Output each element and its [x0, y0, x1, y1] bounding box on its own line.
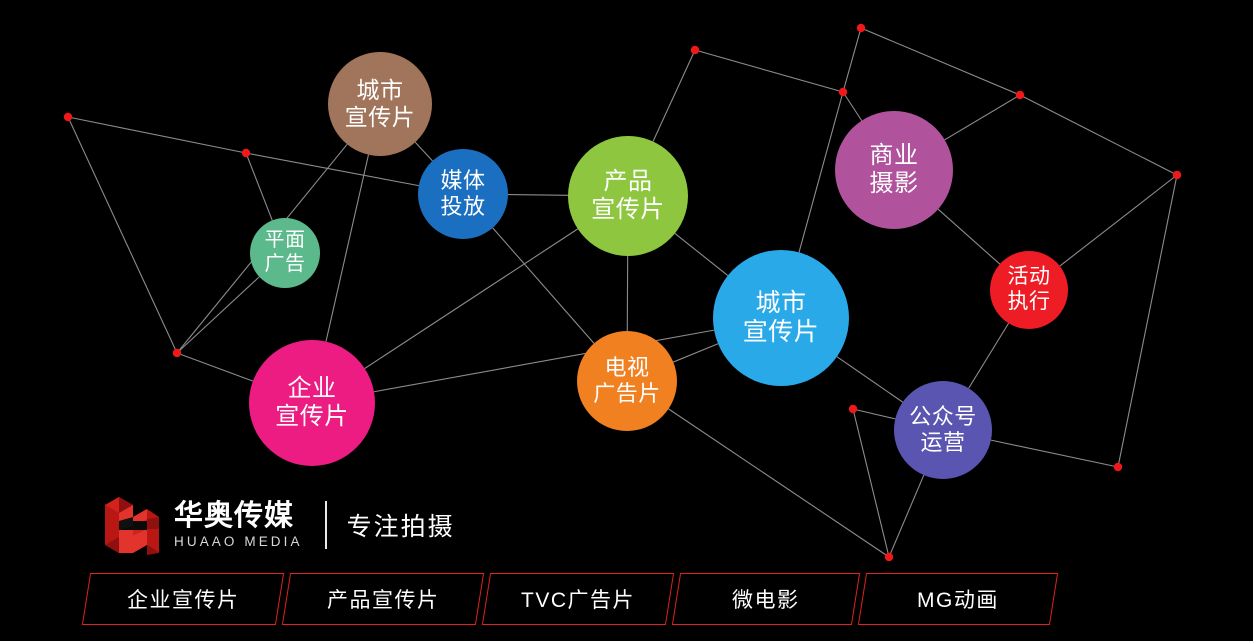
network-link [837, 357, 903, 402]
network-link [853, 409, 895, 419]
category-nav-bar: 企业宣传片产品宣传片TVC广告片微电影MG动画 [0, 569, 1253, 629]
network-link [326, 155, 368, 342]
nav-item-product-film[interactable]: 产品宣传片 [282, 573, 484, 625]
network-link [508, 195, 568, 196]
bubble-label-line: 城市 [357, 77, 404, 104]
brand-logo: 华奥传媒 HUAAO MEDIA 专注拍摄 [103, 494, 455, 556]
network-link [945, 95, 1020, 140]
bubble-label-line: 商业 [870, 142, 919, 170]
network-link [68, 117, 246, 153]
network-link [853, 409, 889, 557]
network-link [669, 409, 889, 557]
service-bubble-media-buy-blue[interactable]: 媒体投放 [418, 149, 508, 239]
network-link [1118, 175, 1177, 467]
brand-wordmark: 华奥传媒 HUAAO MEDIA [174, 496, 303, 554]
service-bubble-print-ad-green[interactable]: 平面广告 [250, 218, 320, 288]
bubble-label-line: 电视 [604, 355, 649, 381]
nav-item-mg-animation[interactable]: MG动画 [858, 573, 1058, 625]
bubble-label-line: 投放 [440, 194, 485, 220]
service-bubble-city-promo-cyan[interactable]: 城市宣传片 [713, 250, 849, 386]
network-link [177, 277, 259, 353]
network-link [493, 228, 594, 344]
network-link [861, 28, 1020, 95]
nav-item-tvc-commercial[interactable]: TVC广告片 [482, 573, 674, 625]
bubble-label-line: 宣传片 [591, 196, 665, 224]
nav-item-label: 产品宣传片 [327, 584, 440, 614]
bubble-label-line: 运营 [920, 430, 965, 456]
network-link [843, 92, 862, 121]
network-node-dot[interactable] [839, 88, 847, 96]
network-link [843, 28, 861, 92]
network-link [969, 323, 1009, 388]
bubble-label-line: 企业 [288, 375, 337, 403]
bubble-label-line: 平面 [265, 229, 306, 253]
network-link [1020, 95, 1177, 175]
bubble-label-line: 活动 [1008, 265, 1051, 290]
huaao-h-monogram-icon [103, 495, 161, 555]
network-node-dot[interactable] [849, 405, 857, 413]
service-bubble-corp-promo-pink[interactable]: 企业宣传片 [249, 340, 375, 466]
nav-item-micro-film[interactable]: 微电影 [672, 573, 860, 625]
network-link [415, 142, 432, 161]
network-link [991, 440, 1118, 467]
bubble-label-line: 媒体 [440, 168, 485, 194]
network-node-dot[interactable] [857, 24, 865, 32]
bubble-label-line: 公众号 [909, 404, 977, 430]
service-bubble-commercial-photo-orchid[interactable]: 商业摄影 [835, 111, 953, 229]
brand-name-en: HUAAO MEDIA [174, 534, 303, 549]
network-link [653, 50, 695, 141]
bubble-label-line: 广告片 [593, 381, 661, 407]
network-node-dot[interactable] [242, 149, 250, 157]
network-link [177, 353, 253, 381]
nav-item-label: MG动画 [917, 584, 999, 614]
bubble-label-line: 城市 [755, 289, 806, 319]
service-bubble-product-promo-green[interactable]: 产品宣传片 [568, 136, 688, 256]
network-node-dot[interactable] [1016, 91, 1024, 99]
bubble-label-line: 宣传片 [275, 403, 349, 431]
network-node-dot[interactable] [64, 113, 72, 121]
brand-tagline: 专注拍摄 [347, 507, 455, 543]
network-link [1060, 175, 1177, 266]
nav-item-label: 企业宣传片 [127, 584, 240, 614]
bubble-label-line: 产品 [604, 168, 653, 196]
service-bubble-wechat-ops-purple[interactable]: 公众号运营 [894, 381, 992, 479]
network-node-dot[interactable] [691, 46, 699, 54]
service-bubble-tv-ad-orange[interactable]: 电视广告片 [577, 331, 677, 431]
nav-item-label: 微电影 [732, 584, 800, 614]
bubble-label-line: 摄影 [870, 170, 919, 198]
network-link [675, 233, 728, 275]
network-link [695, 50, 843, 92]
network-node-dot[interactable] [1173, 171, 1181, 179]
network-link [889, 475, 924, 557]
network-node-dot[interactable] [885, 553, 893, 561]
slide-canvas: 城市宣传片平面广告媒体投放产品宣传片企业宣传片电视广告片城市宣传片商业摄影活动执… [0, 0, 1253, 641]
network-link [68, 117, 177, 353]
network-link [246, 153, 272, 220]
network-node-dot[interactable] [1114, 463, 1122, 471]
bubble-label-line: 宣传片 [743, 318, 820, 348]
network-node-dot[interactable] [173, 349, 181, 357]
network-link [365, 229, 578, 369]
network-link [673, 344, 718, 362]
bubble-label-line: 执行 [1008, 290, 1051, 315]
service-bubble-event-exec-red[interactable]: 活动执行 [990, 251, 1068, 329]
network-link [938, 209, 1000, 264]
brand-name-cn: 华奥传媒 [174, 501, 303, 531]
logo-divider [325, 501, 327, 549]
bubble-label-line: 广告 [265, 253, 306, 277]
bubble-label-line: 宣传片 [345, 104, 416, 131]
service-bubble-city-promo-brown[interactable]: 城市宣传片 [328, 52, 432, 156]
network-link [246, 153, 419, 186]
nav-item-corporate-film[interactable]: 企业宣传片 [82, 573, 284, 625]
nav-item-label: TVC广告片 [521, 584, 635, 614]
